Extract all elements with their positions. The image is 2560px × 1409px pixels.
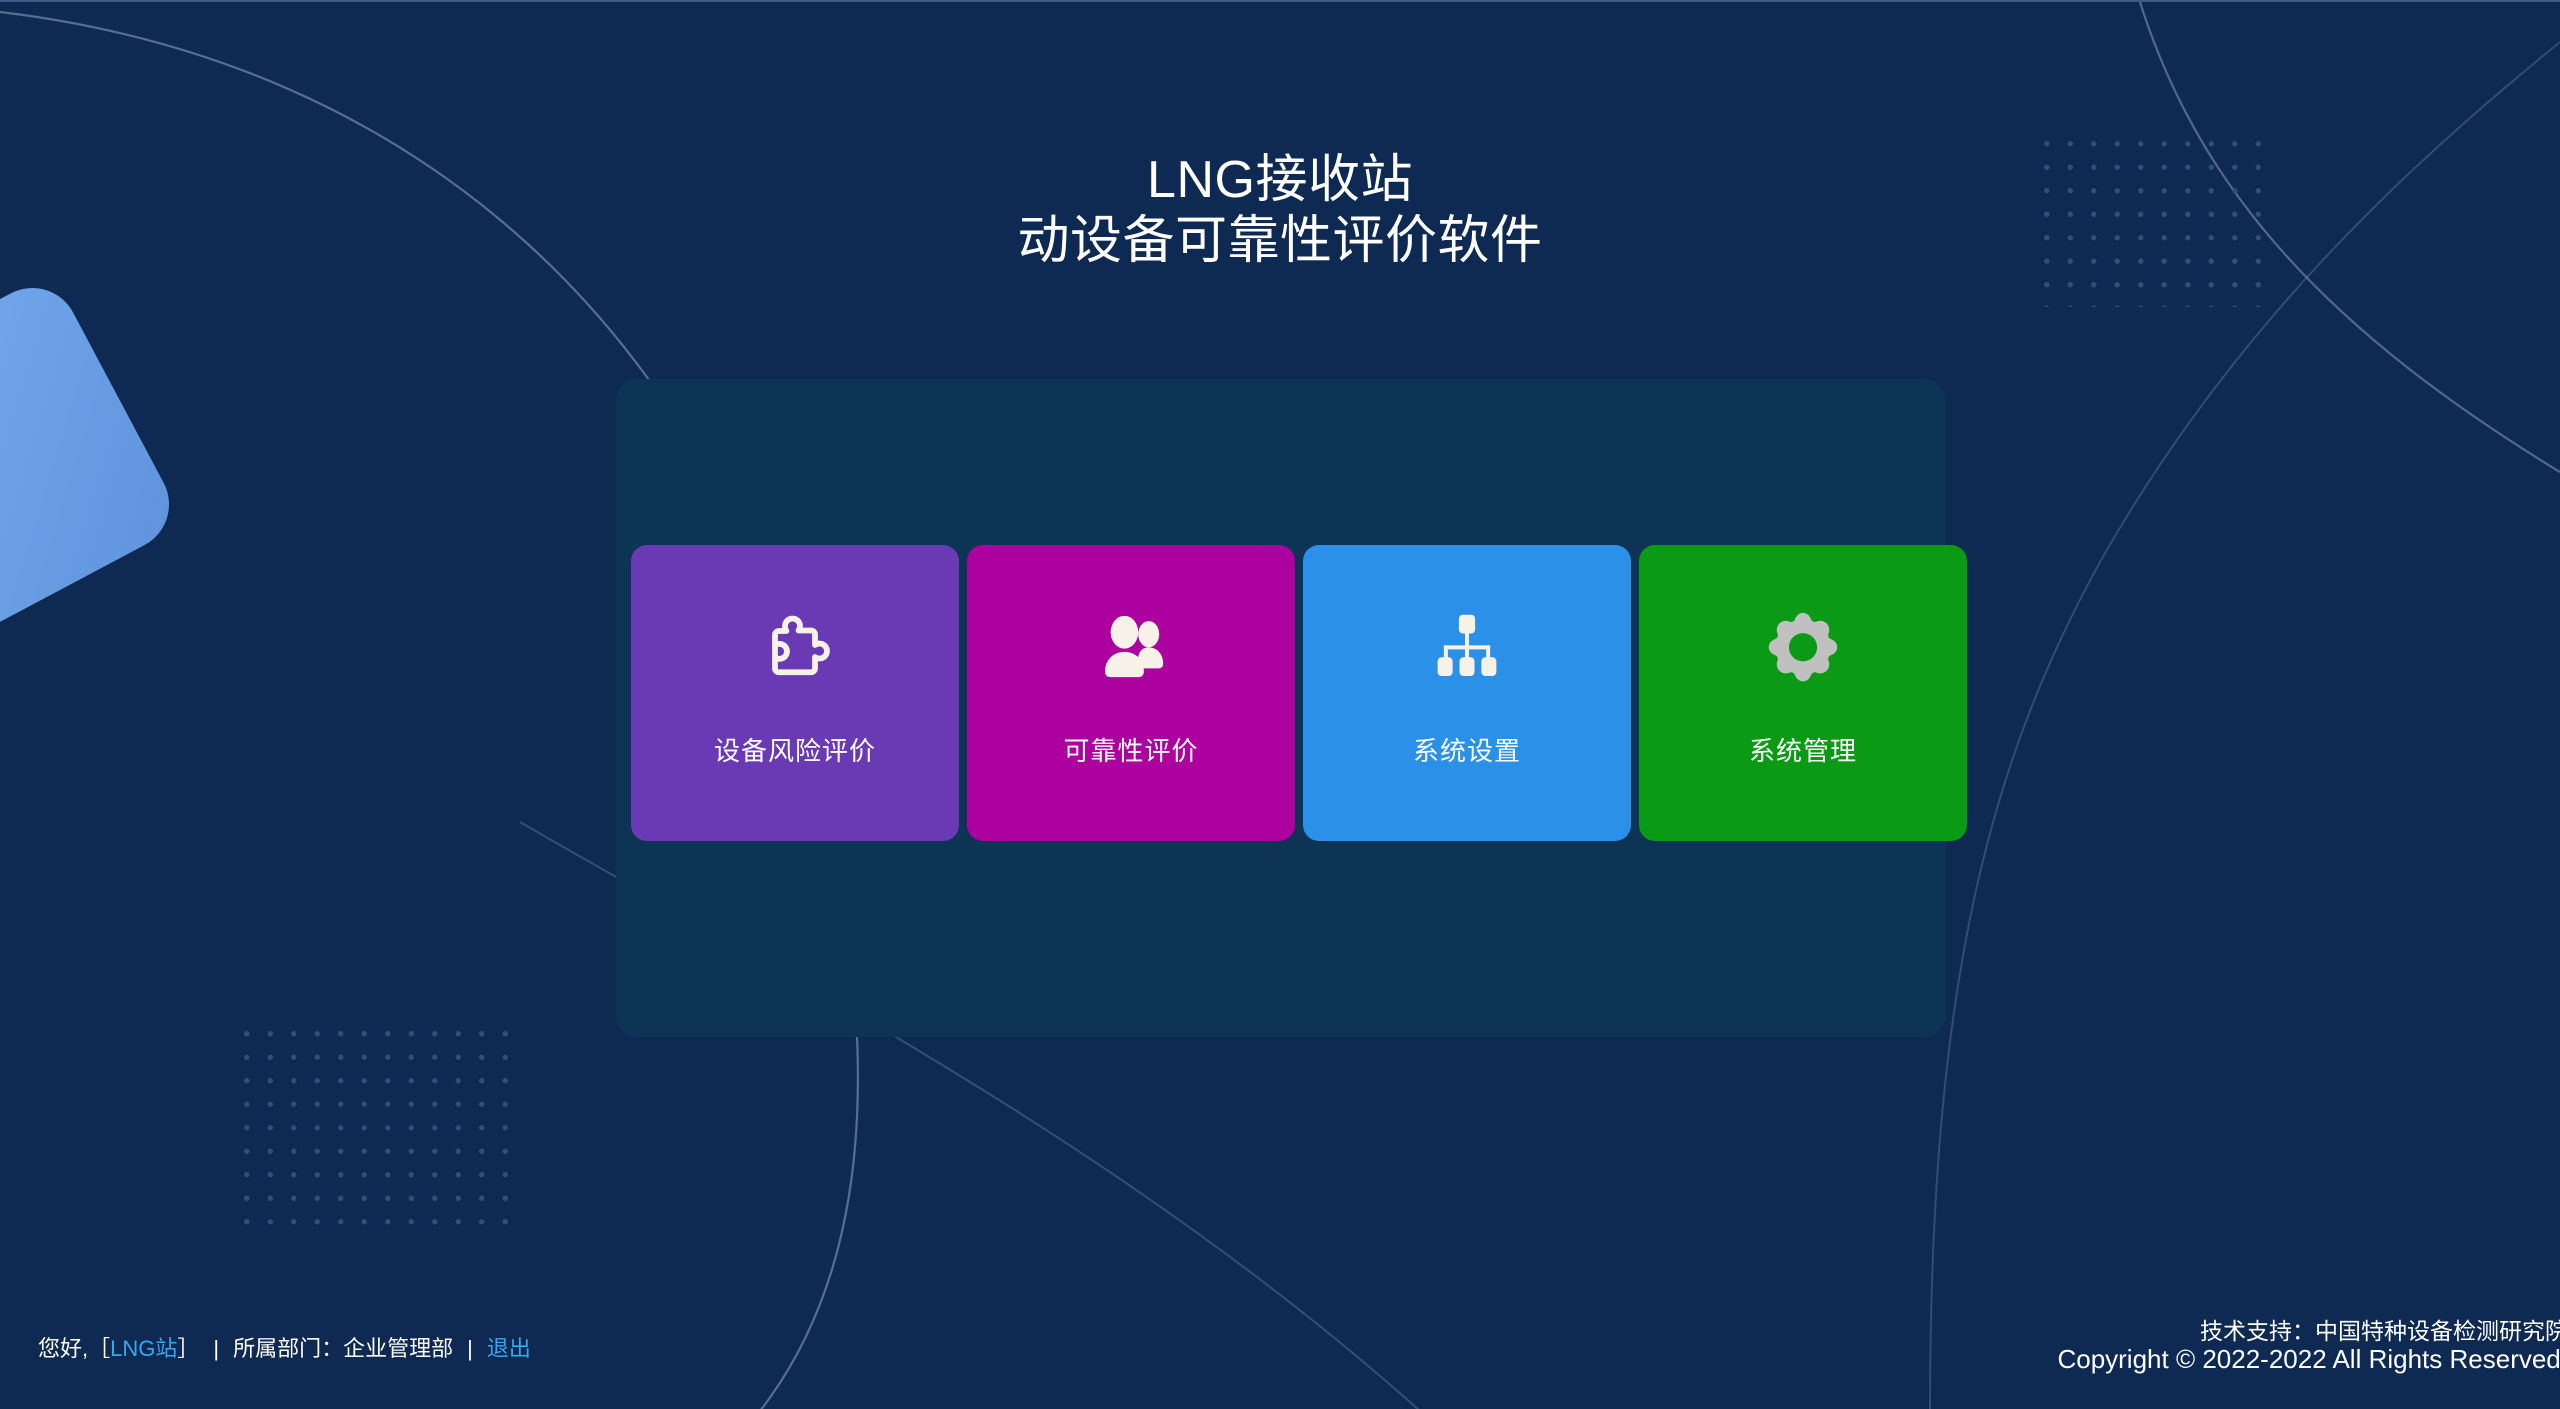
gear-icon bbox=[1760, 603, 1846, 689]
tile-system-settings[interactable]: 系统设置 bbox=[1303, 545, 1631, 841]
tile-label: 设备风险评价 bbox=[714, 731, 876, 768]
footer-copyright: Copyright © 2022-2022 All Rights Reserve… bbox=[2057, 1345, 2560, 1374]
logout-link[interactable]: 退出 bbox=[487, 1336, 531, 1361]
footer-greeting: 您好, bbox=[38, 1331, 88, 1363]
footer-separator-1: | bbox=[199, 1336, 233, 1362]
page-title-line-2: 动设备可靠性评价软件 bbox=[0, 211, 2560, 272]
footer-support-info: 技术支持：中国特种设备检测研究院 Copyright © 2022-2022 A… bbox=[2057, 1319, 2560, 1374]
tile-label: 系统设置 bbox=[1413, 731, 1521, 768]
footer-username-link[interactable]: LNG站 bbox=[110, 1336, 177, 1361]
puzzle-piece-icon bbox=[752, 603, 838, 689]
footer-technical-support: 技术支持：中国特种设备检测研究院 bbox=[2057, 1319, 2560, 1345]
org-hierarchy-icon bbox=[1424, 603, 1510, 689]
footer-bracket-close: ］ bbox=[177, 1336, 199, 1361]
people-icon bbox=[1088, 603, 1174, 689]
dot-grid-bottom-left bbox=[235, 1022, 525, 1227]
tile-label: 可靠性评价 bbox=[1063, 731, 1198, 768]
blue-rounded-square-decoration bbox=[0, 272, 185, 657]
footer-separator-2: | bbox=[453, 1336, 487, 1362]
page-title: LNG接收站 动设备可靠性评价软件 bbox=[0, 150, 2560, 273]
page-title-line-1: LNG接收站 bbox=[0, 150, 2560, 211]
tile-equipment-risk-assessment[interactable]: 设备风险评价 bbox=[631, 545, 959, 841]
tile-reliability-assessment[interactable]: 可靠性评价 bbox=[967, 545, 1295, 841]
app-root: LNG接收站 动设备可靠性评价软件 设备风险评价 bbox=[0, 0, 2560, 1409]
module-tile-row: 设备风险评价 可靠性评价 bbox=[631, 545, 1967, 841]
footer-user-info: 您好,［LNG站］|所属部门：企业管理部|退出 bbox=[38, 1331, 531, 1363]
page-footer: 您好,［LNG站］|所属部门：企业管理部|退出 技术支持：中国特种设备检测研究院… bbox=[0, 1313, 2560, 1409]
tile-label: 系统管理 bbox=[1749, 731, 1857, 768]
footer-bracket-open: ［ bbox=[88, 1336, 110, 1361]
footer-department: 所属部门：企业管理部 bbox=[233, 1336, 453, 1361]
tile-system-management[interactable]: 系统管理 bbox=[1639, 545, 1967, 841]
